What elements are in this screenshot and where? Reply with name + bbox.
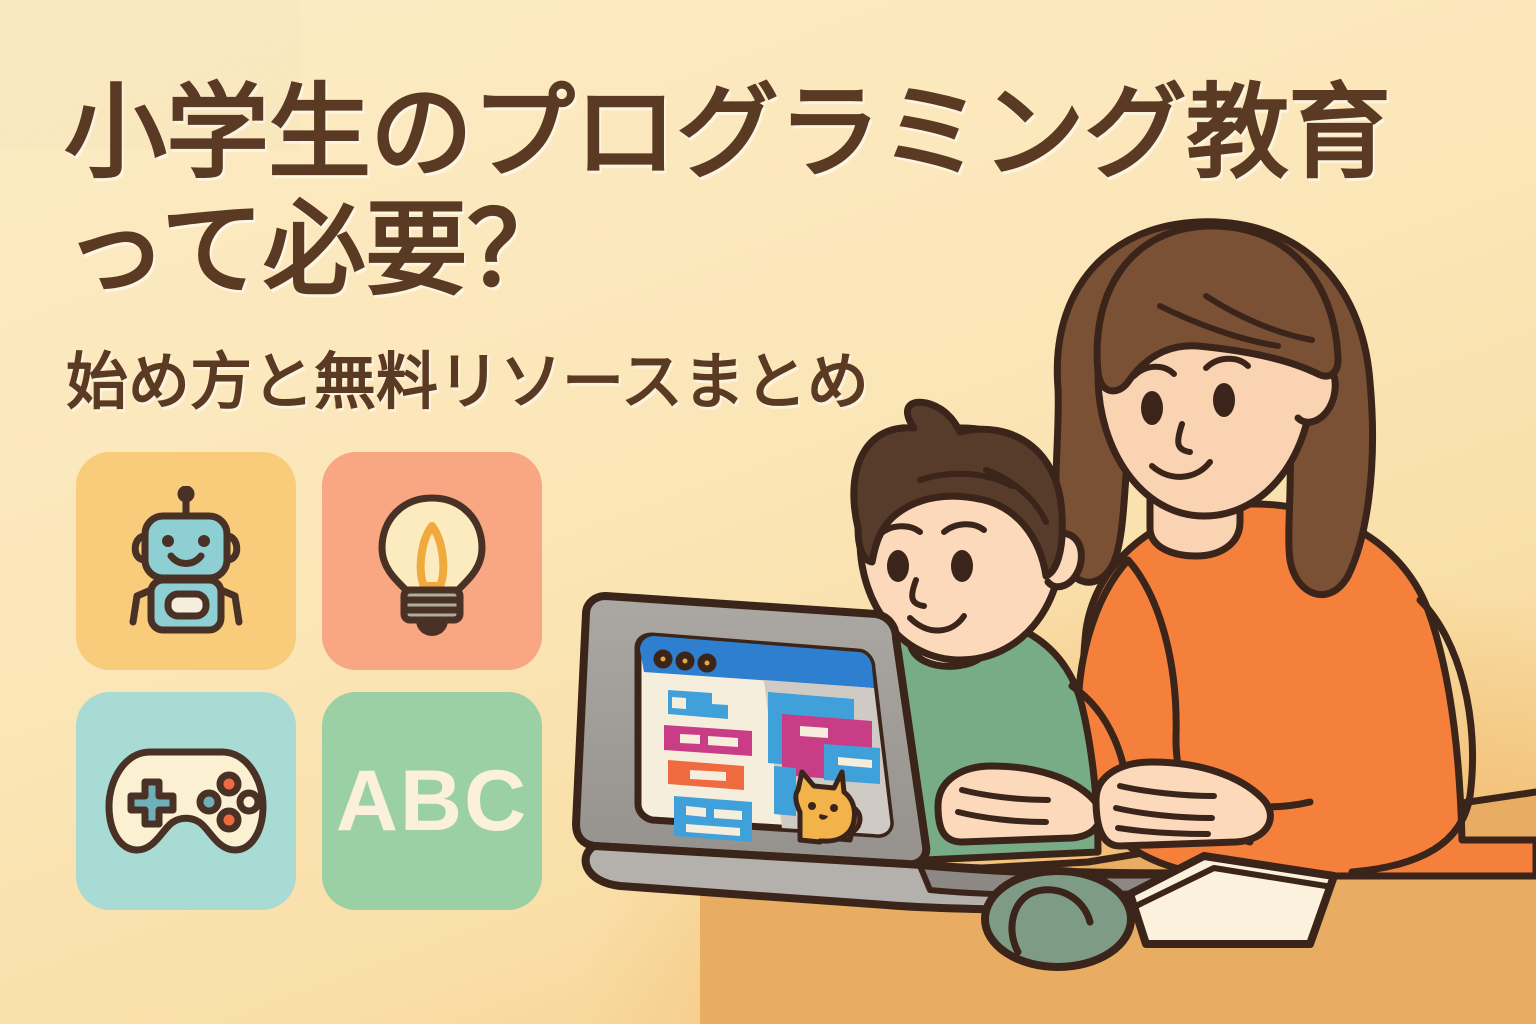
tile-robot — [76, 452, 296, 670]
tile-alphabet: ABC — [322, 692, 542, 910]
robot-icon — [111, 486, 261, 636]
abc-label: ABC — [336, 752, 528, 851]
lightbulb-icon — [362, 486, 502, 636]
page-subtitle: 始め方と無料リソースまとめ — [66, 331, 869, 421]
hero-banner: 小学生のプログラミング教育 って必要？ 始め方と無料リソースまとめ — [0, 0, 1536, 1024]
tile-game — [76, 692, 296, 910]
title-line-2: って必要？ — [64, 191, 1444, 308]
title-line-1: 小学生のプログラミング教育 — [64, 74, 1444, 191]
gamepad-icon — [105, 740, 267, 862]
computer-mouse — [985, 871, 1131, 967]
page-title: 小学生のプログラミング教育 って必要？ — [64, 74, 1444, 309]
tile-idea — [322, 452, 542, 670]
icon-tile-grid: ABC — [76, 452, 554, 922]
